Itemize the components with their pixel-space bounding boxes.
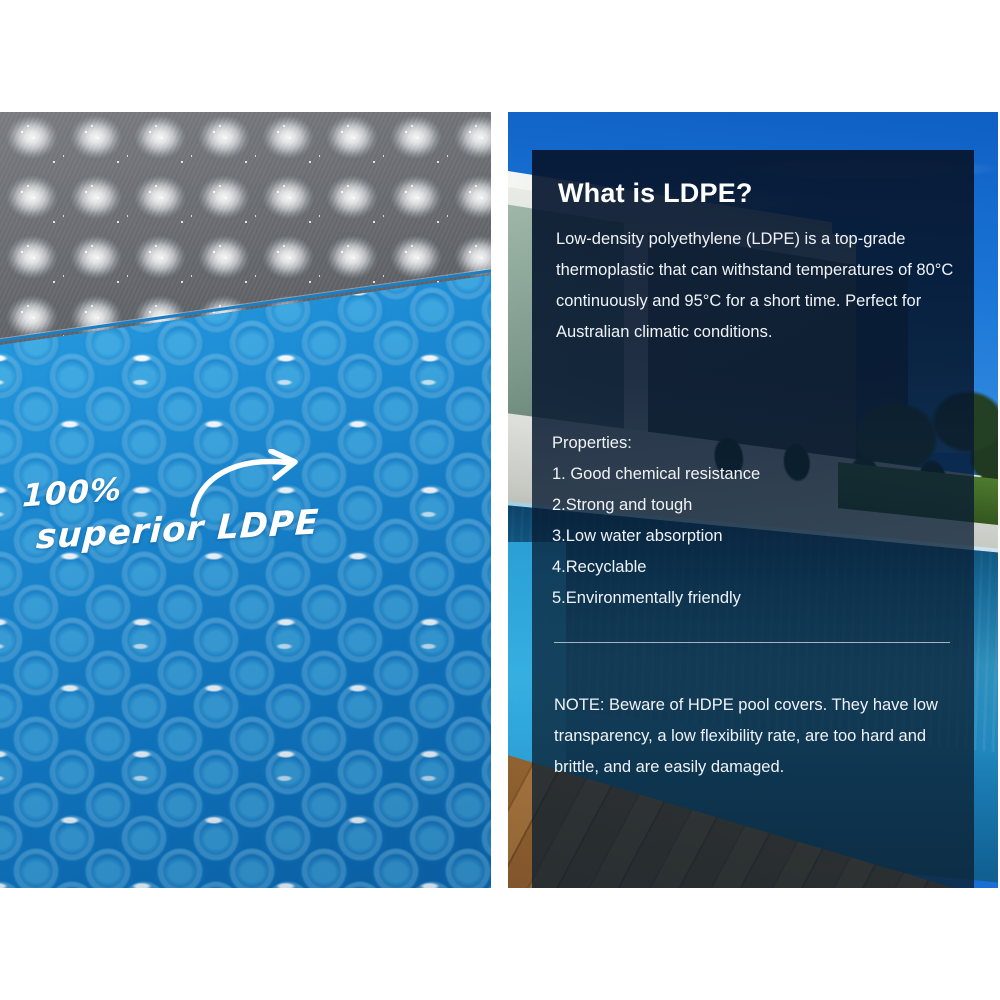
product-infographic: 100% superior LDPE What is LDPE? Low-den…	[0, 0, 1000, 1000]
list-item: 4.Recyclable	[552, 552, 962, 583]
card-paragraph: Low-density polyethylene (LDPE) is a top…	[556, 224, 956, 348]
properties-list: 1. Good chemical resistance 2.Strong and…	[552, 459, 962, 614]
section-divider	[554, 642, 950, 643]
list-item: 2.Strong and tough	[552, 490, 962, 521]
note-text: NOTE: Beware of HDPE pool covers. They h…	[554, 690, 962, 783]
card-title: What is LDPE?	[558, 178, 753, 209]
properties-block: Properties: 1. Good chemical resistance …	[552, 428, 962, 614]
properties-heading: Properties:	[552, 428, 962, 459]
list-item: 1. Good chemical resistance	[552, 459, 962, 490]
left-image-panel: 100% superior LDPE	[0, 112, 491, 888]
list-item: 5.Environmentally friendly	[552, 583, 962, 614]
right-info-panel: What is LDPE? Low-density polyethylene (…	[508, 112, 998, 888]
info-card: What is LDPE? Low-density polyethylene (…	[532, 150, 974, 888]
list-item: 3.Low water absorption	[552, 521, 962, 552]
handwritten-caption: 100% superior LDPE	[22, 467, 352, 577]
